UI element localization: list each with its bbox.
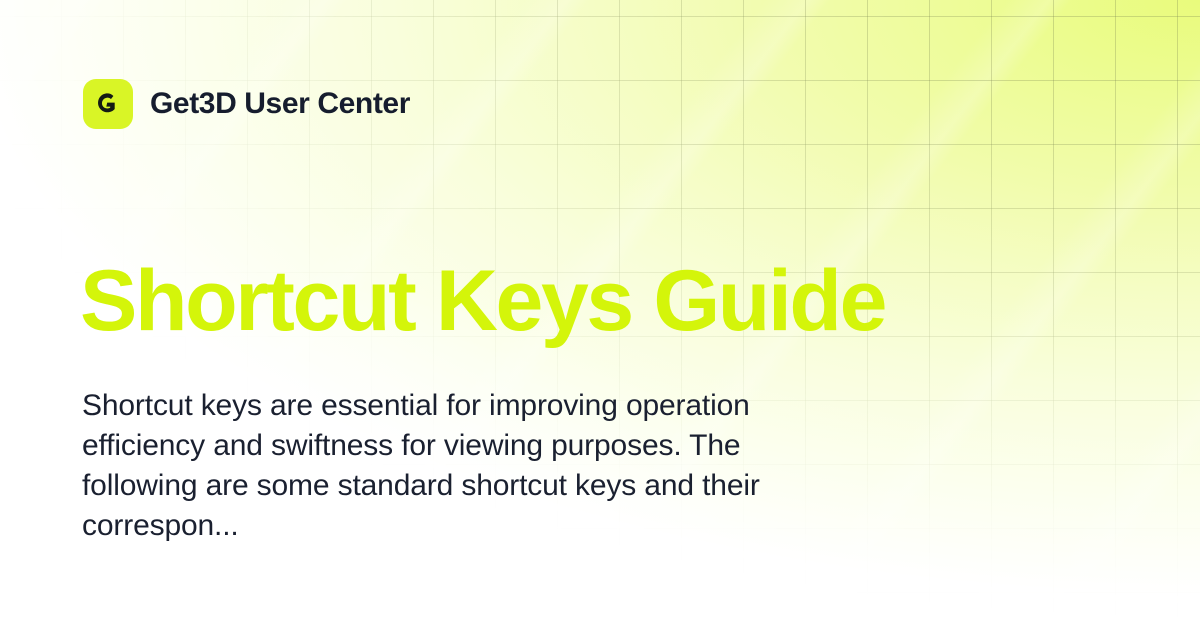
card-content: Get3D User Center Shortcut Keys Guide Sh… — [0, 0, 1200, 630]
page-title: Shortcut Keys Guide — [80, 258, 1120, 346]
brand-lockup[interactable]: Get3D User Center — [83, 79, 410, 129]
share-card: Get3D User Center Shortcut Keys Guide Sh… — [0, 0, 1200, 630]
get3d-g-logo-icon — [83, 79, 133, 129]
brand-name: Get3D User Center — [150, 89, 410, 119]
page-description: Shortcut keys are essential for improvin… — [82, 386, 822, 546]
